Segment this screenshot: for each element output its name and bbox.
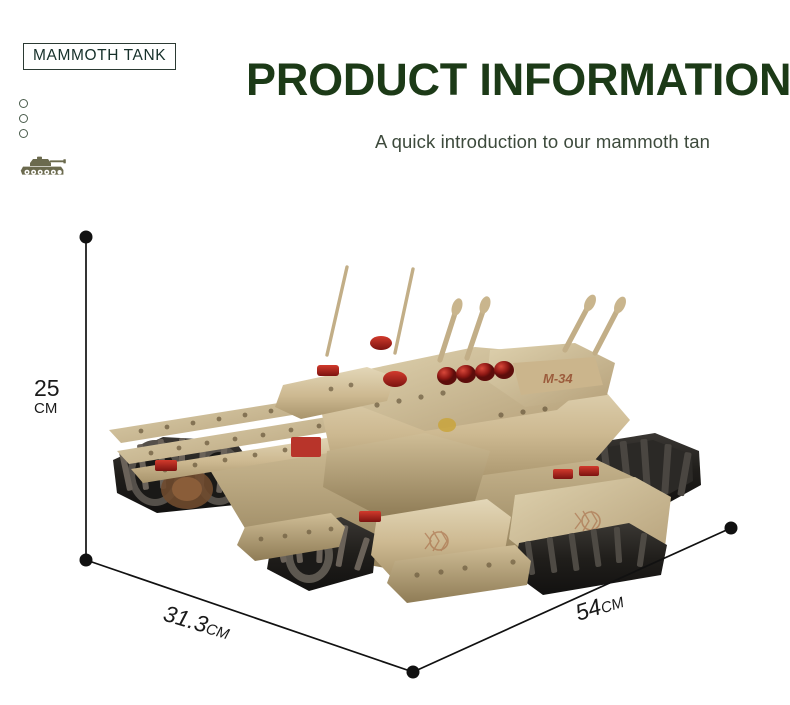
page-subtitle: A quick introduction to our mammoth tan — [375, 131, 710, 153]
circle-outline-icon — [19, 129, 28, 138]
nose-decal-red — [291, 437, 321, 457]
tank-silhouette-icon — [20, 155, 68, 183]
dimension-label-height: 25 CM — [34, 377, 60, 417]
dome-light-red — [383, 371, 407, 387]
accent-brick-red — [155, 460, 177, 471]
page-title: PRODUCT INFORMATION — [246, 56, 790, 103]
dimension-marker-bottom — [407, 666, 420, 679]
accent-brick-red — [553, 469, 573, 479]
dimension-marker-right — [725, 522, 738, 535]
accent-brick-red — [359, 511, 381, 522]
product-information-page: MAMMOTH TANK PRODUCT IN — [0, 0, 790, 705]
detail-piece-yellow — [438, 418, 456, 432]
dimension-marker-corner — [80, 554, 93, 567]
product-category-badge: MAMMOTH TANK — [23, 43, 176, 70]
product-photo-mammoth-tank: M-34 — [95, 255, 715, 625]
circle-outline-icon — [19, 114, 28, 123]
dome-light-red — [370, 336, 392, 350]
bullet-dots-group — [19, 99, 28, 138]
hull-marking-text: M-34 — [543, 371, 573, 386]
dimension-marker-top — [80, 231, 93, 244]
barrel-tips — [449, 293, 628, 317]
accent-brick-red — [579, 466, 599, 476]
circle-outline-icon — [19, 99, 28, 108]
turret-left-lamp — [317, 365, 339, 376]
